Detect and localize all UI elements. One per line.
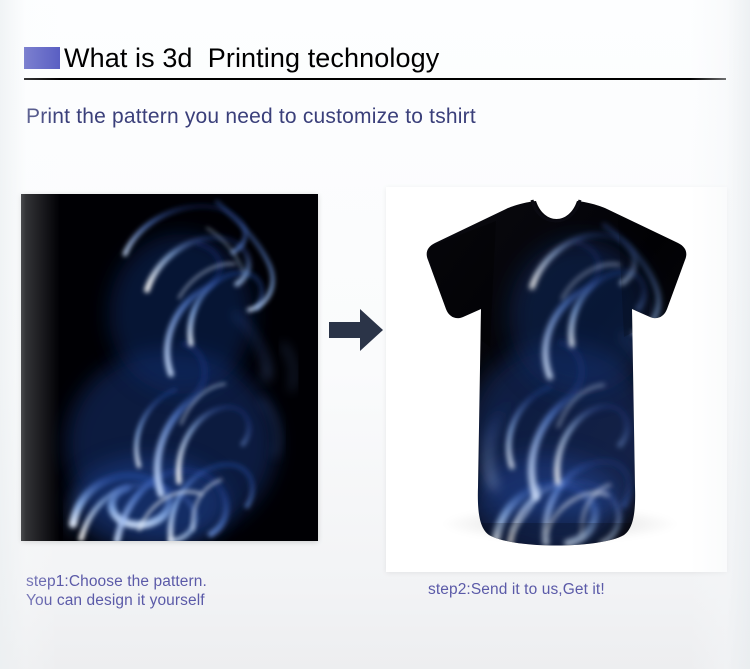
steps-container: step1:Choose the pattern. You can design… (0, 0, 750, 669)
arrow-right-icon (327, 305, 385, 355)
promo-page: What is 3d Printing technology Print the… (0, 0, 750, 669)
printed-tshirt-photo (386, 187, 727, 572)
step1-image-panel (21, 194, 318, 541)
step2-image-panel (386, 187, 727, 572)
smoke-pattern-svg (21, 194, 318, 541)
smoke-pattern-artwork (21, 194, 318, 541)
tshirt-drop-shadow (444, 507, 676, 541)
step1-caption: step1:Choose the pattern. You can design… (26, 572, 207, 610)
step2-caption: step2:Send it to us,Get it! (428, 580, 605, 599)
